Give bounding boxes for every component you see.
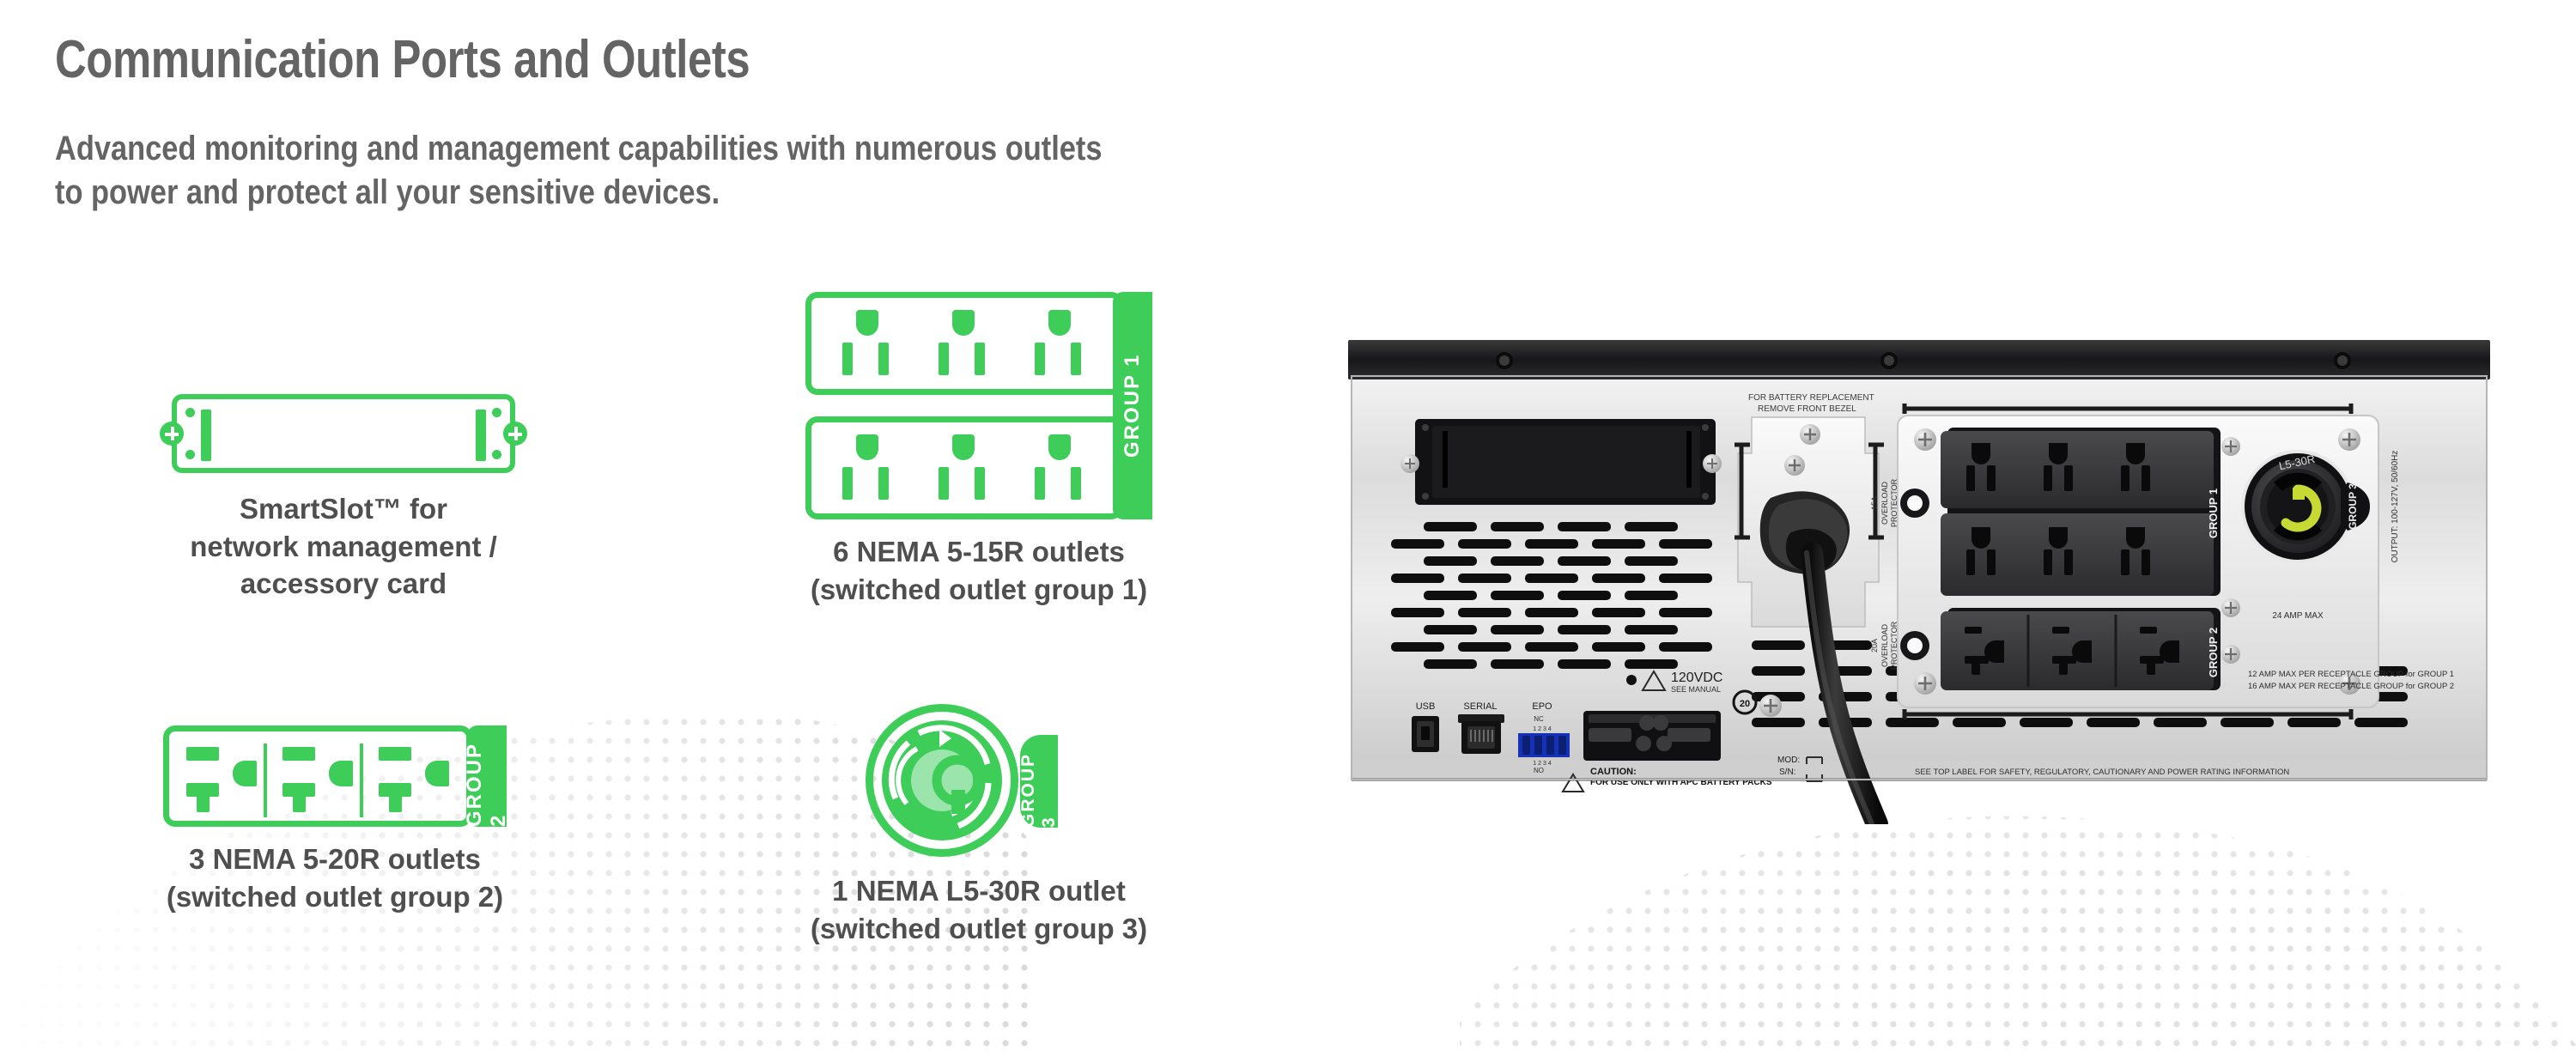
feature-group3-outlet: GROUP 3 1 NEMA L5-30R outlet (switched o… xyxy=(747,704,1211,947)
group1-caption-line-1: 6 NEMA 5-15R outlets xyxy=(756,533,1202,571)
outlet-tslot-stem xyxy=(293,793,306,812)
overload-20a-label-l2: OVERLOAD xyxy=(1880,623,1889,667)
group2-divider-1 xyxy=(264,743,267,817)
nema-l5-30r-twistlock-icon: GROUP 3 xyxy=(850,704,1108,859)
outlet-5-20r xyxy=(281,747,367,814)
mod-label: MOD: xyxy=(1777,756,1800,765)
outlet-slot-right xyxy=(878,467,889,500)
panel-group3-label: GROUP 3 xyxy=(2347,483,2359,530)
outlet-5-15r xyxy=(1028,310,1091,375)
outlet-5-20r xyxy=(185,747,270,814)
smartslot-dot-br xyxy=(492,450,501,459)
group1-panel-top xyxy=(805,292,1123,395)
overload-15a-label-l3: PROTECTOR xyxy=(1890,478,1899,527)
smartslot-dot-bl xyxy=(185,450,195,459)
battery-replacement-label-line1: FOR BATTERY REPLACEMENT xyxy=(1748,393,1874,403)
sn-label: S/N: xyxy=(1779,768,1795,777)
serial-port-label: SERIAL xyxy=(1463,701,1497,712)
smartslot-icon xyxy=(146,391,541,476)
outlet-5-20r xyxy=(377,747,463,814)
amp-max-label: 24 AMP MAX xyxy=(2272,611,2324,621)
smartslot-caption-line-1: SmartSlot™ for xyxy=(103,490,584,528)
page-subtitle: Advanced monitoring and management capab… xyxy=(55,127,1102,215)
epo-pin-numbers-bottom: 1 2 3 4 xyxy=(1533,761,1552,767)
outlet-5-15r xyxy=(932,434,995,500)
ups-rear-panel-photo: FOR BATTERY REPLACEMENT REMOVE FRONT BEZ… xyxy=(1348,335,2490,824)
group3-caption: 1 NEMA L5-30R outlet (switched outlet gr… xyxy=(747,872,1211,947)
outlet-slot-left xyxy=(842,467,853,500)
outlet-5-15r xyxy=(932,310,995,375)
overload-15a-label-l1: 15A xyxy=(1870,496,1879,510)
outlet-slot-right xyxy=(975,467,985,500)
epo-pin-numbers-top: 1 2 3 4 xyxy=(1533,726,1552,732)
group2-caption-line-1: 3 NEMA 5-20R outlets xyxy=(112,841,558,878)
outlet-tslot-stem xyxy=(197,793,210,812)
group2-tab-label: GROUP 2 xyxy=(467,725,507,827)
smartslot-caption-line-2: network management / xyxy=(103,528,584,566)
group2-caption: 3 NEMA 5-20R outlets (switched outlet gr… xyxy=(112,841,558,915)
caution-title: CAUTION: xyxy=(1590,767,1637,777)
outlet-slot-top xyxy=(186,747,219,761)
group3-caption-line-2: (switched outlet group 3) xyxy=(747,910,1211,948)
outlet-slot-top xyxy=(379,747,411,761)
page-title: Communication Ports and Outlets xyxy=(55,29,750,90)
outlet-slot-left xyxy=(939,343,949,375)
dc-voltage-label: 120VDC xyxy=(1671,671,1722,685)
smartslot-caption-line-3: accessory card xyxy=(103,565,584,603)
dc-voltage-sublabel: SEE MANUAL xyxy=(1671,685,1721,694)
nema-5-15r-outlets-icon: GROUP 1 xyxy=(805,292,1152,519)
feature-group2-outlets: GROUP 2 3 NEMA 5-20R outlets (switched o… xyxy=(112,725,558,915)
outlet-5-15r xyxy=(1028,434,1091,500)
epo-port-label: EPO xyxy=(1532,701,1552,712)
outlet-slot-top xyxy=(283,747,315,761)
outlet-ground-dome xyxy=(856,310,878,336)
group2-panel xyxy=(163,725,472,827)
outlet-slot-right xyxy=(975,343,985,375)
smartslot-frame xyxy=(172,394,515,473)
smartslot-screw-right-icon xyxy=(503,422,527,446)
feature-smartslot: SmartSlot™ for network management / acce… xyxy=(103,391,584,603)
outlet-slot-left xyxy=(1035,467,1045,500)
outlet-slot-right xyxy=(878,343,889,375)
outlet-ground-d xyxy=(329,761,353,786)
smartslot-bar-left xyxy=(201,410,211,461)
outlet-slot-left xyxy=(842,343,853,375)
rohs-badge: 20 xyxy=(1740,699,1750,709)
outlet-5-15r xyxy=(835,434,899,500)
outlet-tslot-stem xyxy=(389,793,402,812)
outlet-ground-dome xyxy=(856,434,878,460)
outlet-slot-right xyxy=(1071,343,1081,375)
smartslot-dot-tr xyxy=(492,408,501,417)
output-rating-label: OUTPUT: 100-127V, 50/60Hz xyxy=(2391,451,2400,563)
smartslot-bar-right xyxy=(476,410,486,461)
panel-group2-label: GROUP 2 xyxy=(2207,628,2220,677)
page-subtitle-line-2: to power and protect all your sensitive … xyxy=(55,171,1102,215)
outlet-ground-d xyxy=(425,761,449,786)
outlet-5-15r xyxy=(835,310,899,375)
smartslot-dot-tl xyxy=(185,408,195,417)
feature-group1-outlets: GROUP 1 xyxy=(756,292,1202,608)
outlet-ground-dome xyxy=(1048,310,1071,336)
overload-20a-label-l3: PROTECTOR xyxy=(1890,621,1899,670)
smartslot-caption: SmartSlot™ for network management / acce… xyxy=(103,490,584,603)
panel-group1-label: GROUP 1 xyxy=(2207,489,2220,538)
page-subtitle-line-1: Advanced monitoring and management capab… xyxy=(55,127,1102,171)
group2-caption-line-2: (switched outlet group 2) xyxy=(112,878,558,916)
outlet-slot-left xyxy=(1035,343,1045,375)
group1-caption: 6 NEMA 5-15R outlets (switched outlet gr… xyxy=(756,533,1202,608)
top-label-note: SEE TOP LABEL FOR SAFETY, REGULATORY, CA… xyxy=(1915,768,2289,777)
outlet-slot-right xyxy=(1071,467,1081,500)
epo-nc-label: NC xyxy=(1534,715,1544,723)
usb-port-label: USB xyxy=(1416,701,1436,712)
overload-15a-label-l2: OVERLOAD xyxy=(1880,481,1889,525)
twistlock-center-keyhole xyxy=(866,704,1018,857)
receptacle-note-group2: 16 AMP MAX PER RECEPTACLE GROUP for GROU… xyxy=(2248,682,2454,691)
epo-no-label: NO xyxy=(1534,767,1544,774)
nema-5-20r-outlets-icon: GROUP 2 xyxy=(163,725,507,827)
smartslot-screw-left-icon xyxy=(160,422,184,446)
group1-caption-line-2: (switched outlet group 1) xyxy=(756,571,1202,609)
overload-20a-label-l1: 20A xyxy=(1870,639,1879,652)
receptacle-note-group1: 12 AMP MAX PER RECEPTACLE GROUP for GROU… xyxy=(2248,670,2454,679)
group1-panel-bottom xyxy=(805,416,1123,519)
outlet-ground-d xyxy=(233,761,257,786)
group3-tab-label: GROUP 3 xyxy=(1020,735,1058,828)
group3-caption-line-1: 1 NEMA L5-30R outlet xyxy=(747,872,1211,910)
outlet-ground-dome xyxy=(1048,434,1071,460)
outlet-slot-left xyxy=(939,467,949,500)
group2-divider-2 xyxy=(360,743,363,817)
outlet-ground-dome xyxy=(952,310,975,336)
battery-replacement-label-line2: REMOVE FRONT BEZEL xyxy=(1758,404,1856,414)
outlet-ground-dome xyxy=(952,434,975,460)
